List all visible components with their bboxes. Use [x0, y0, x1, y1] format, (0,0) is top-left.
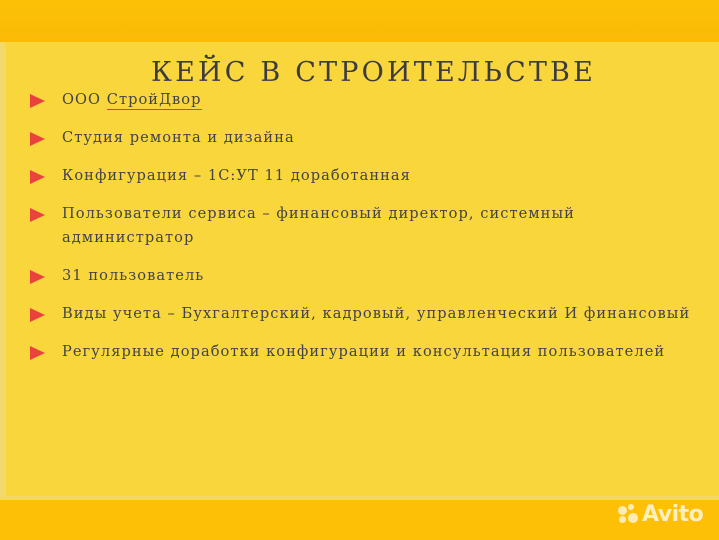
list-item-text: ООО СтройДвор [62, 88, 704, 112]
avito-wordmark: Avito [642, 504, 703, 526]
list-item: Пользователи сервиса – финансовый директ… [28, 202, 704, 250]
list-item: Студия ремонта и дизайна [28, 126, 704, 150]
bullet-list: ООО СтройДвор Студия ремонта и дизайна К… [28, 88, 704, 378]
list-item: 31 пользователь [28, 264, 704, 288]
list-item: Конфигурация – 1С:УТ 11 доработанная [28, 164, 704, 188]
avito-dots-icon [618, 504, 640, 526]
list-item-text-plain: ООО [62, 91, 107, 108]
list-item: Регулярные доработки конфигурации и конс… [28, 340, 704, 364]
panel-left-edge [0, 42, 6, 498]
avito-watermark: Avito [618, 500, 710, 530]
triangle-right-icon [30, 132, 45, 146]
page-title: КЕЙС В СТРОИТЕЛЬСТВЕ [0, 57, 719, 88]
triangle-right-icon [30, 94, 45, 108]
list-item-text: Студия ремонта и дизайна [62, 126, 704, 150]
triangle-right-icon [30, 208, 45, 222]
list-item: Виды учета – Бухгалтерский, кадровый, уп… [28, 302, 704, 326]
spell-error-text: СтройДвор [107, 91, 202, 110]
triangle-right-icon [30, 270, 45, 284]
list-item: ООО СтройДвор [28, 88, 704, 112]
list-item-text: Регулярные доработки конфигурации и конс… [62, 340, 704, 364]
list-item-text: 31 пользователь [62, 264, 704, 288]
list-item-text: Пользователи сервиса – финансовый директ… [62, 202, 704, 250]
list-item-text: Виды учета – Бухгалтерский, кадровый, уп… [62, 302, 704, 326]
triangle-right-icon [30, 308, 45, 322]
triangle-right-icon [30, 346, 45, 360]
presentation-slide: КЕЙС В СТРОИТЕЛЬСТВЕ ООО СтройДвор Студи… [0, 0, 719, 540]
slide-footer-band [0, 500, 719, 540]
list-item-text: Конфигурация – 1С:УТ 11 доработанная [62, 164, 704, 188]
slide-header-band [0, 0, 719, 42]
triangle-right-icon [30, 170, 45, 184]
